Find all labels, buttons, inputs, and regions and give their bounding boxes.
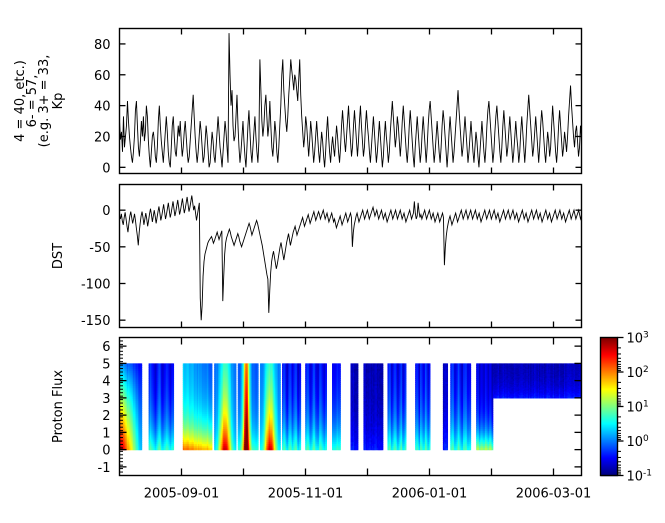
kp-ytick-label: 0 (102, 161, 110, 176)
kp-series-line (120, 33, 582, 167)
figure-canvas: 020406080Kp(e.g. 3+ = 33,6- = 57,4 = 40,… (0, 0, 665, 523)
dst-axis-label: DST (51, 243, 66, 269)
kp-ytick-label: 20 (94, 130, 111, 145)
proton-flux-heatmap (120, 363, 583, 450)
kp-panel: 020406080Kp(e.g. 3+ = 33,6- = 57,4 = 40,… (13, 29, 582, 177)
dst-plot-frame (120, 185, 582, 328)
space-weather-figure: 020406080Kp(e.g. 3+ = 33,6- = 57,4 = 40,… (0, 0, 665, 523)
heatmap-cell (257, 448, 259, 450)
dst-ytick-label: -100 (81, 278, 111, 293)
dst-series-line (120, 196, 582, 321)
heatmap-cell (172, 448, 174, 450)
kp-ytick-label: 80 (94, 38, 111, 53)
dst-panel: 0-50-100-150DST (51, 185, 582, 330)
kp-axis-label-line: 4 = 40, etc.) (13, 60, 28, 142)
kp-ytick-label: 40 (94, 100, 111, 115)
heatmap-cell (211, 448, 213, 450)
dst-ytick-label: -150 (81, 314, 111, 329)
dst-ytick-label: -50 (89, 241, 110, 256)
kp-ytick-label: 60 (94, 69, 111, 84)
heatmap-cell (235, 448, 237, 450)
kp-axis-label-line: Kp (51, 93, 66, 110)
dst-ytick-label: 0 (102, 204, 110, 219)
proton-flux-panel: -10123456Proton Flux2005-09-012005-11-01… (51, 338, 591, 502)
heatmap-cell (140, 448, 142, 450)
